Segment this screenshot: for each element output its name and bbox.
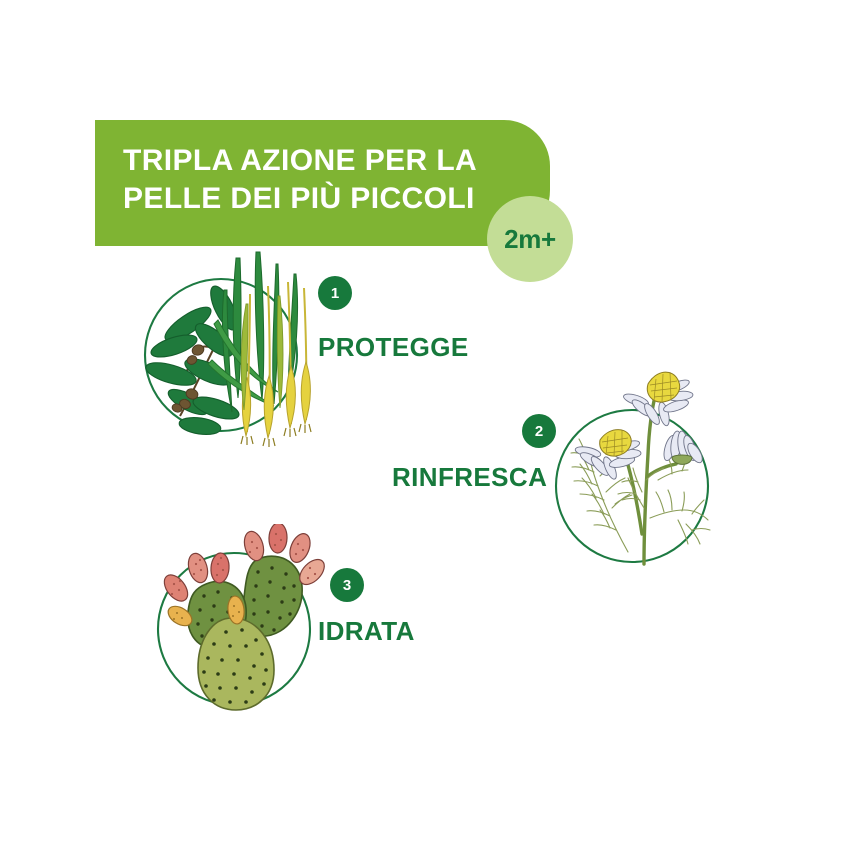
benefit-marker-3: 3 — [330, 568, 364, 602]
chamomile-plant-illustration — [552, 358, 727, 573]
benefit-label-idrata: IDRATA — [318, 618, 415, 644]
benefit-marker-number: 2 — [535, 424, 543, 439]
benefit-marker-number: 1 — [331, 286, 339, 301]
page-title: TRIPLA AZIONE PER LA PELLE DEI PIÙ PICCO… — [123, 142, 550, 218]
cactus-plant-illustration — [144, 524, 334, 714]
age-badge-label: 2m+ — [504, 226, 556, 252]
infographic-root: TRIPLA AZIONE PER LA PELLE DEI PIÙ PICCO… — [0, 0, 850, 850]
benefit-label-protegge: PROTEGGE — [318, 334, 469, 360]
benefit-marker-number: 3 — [343, 578, 351, 593]
header-banner: TRIPLA AZIONE PER LA PELLE DEI PIÙ PICCO… — [95, 120, 550, 246]
benefit-marker-2: 2 — [522, 414, 556, 448]
benefit-label-rinfresca: RINFRESCA — [392, 464, 547, 490]
age-badge: 2m+ — [487, 196, 573, 282]
benefit-marker-1: 1 — [318, 276, 352, 310]
oat-plant-illustration — [128, 248, 318, 448]
